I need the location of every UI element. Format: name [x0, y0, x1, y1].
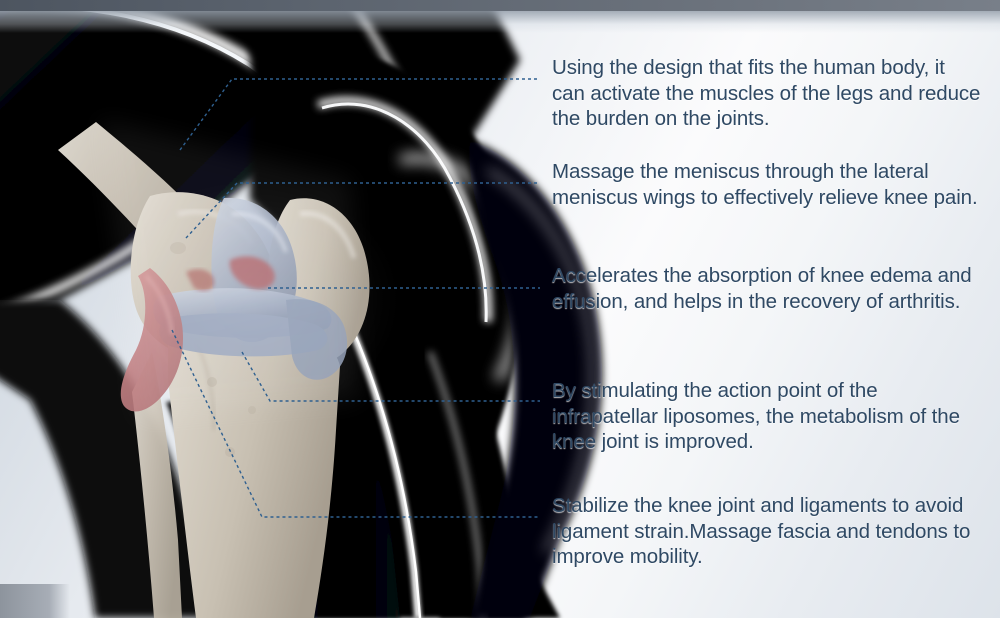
callout-text-2: Massage the meniscus through the lateral… [552, 159, 982, 210]
callout-text-1: Using the design that fits the human bod… [552, 55, 982, 132]
leader-line-4 [242, 352, 540, 401]
callout-text-3: Accelerates the absorption of knee edema… [552, 263, 982, 314]
leader-line-1 [180, 79, 540, 150]
leader-line-2 [186, 183, 540, 238]
callout-text-5: Stabilize the knee joint and ligaments t… [552, 493, 982, 570]
product-infographic: Using the design that fits the human bod… [0, 0, 1000, 618]
callout-list: Using the design that fits the human bod… [552, 0, 1000, 618]
leader-line-5 [172, 330, 540, 517]
callout-text-4: By stimulating the action point of the i… [552, 378, 982, 455]
